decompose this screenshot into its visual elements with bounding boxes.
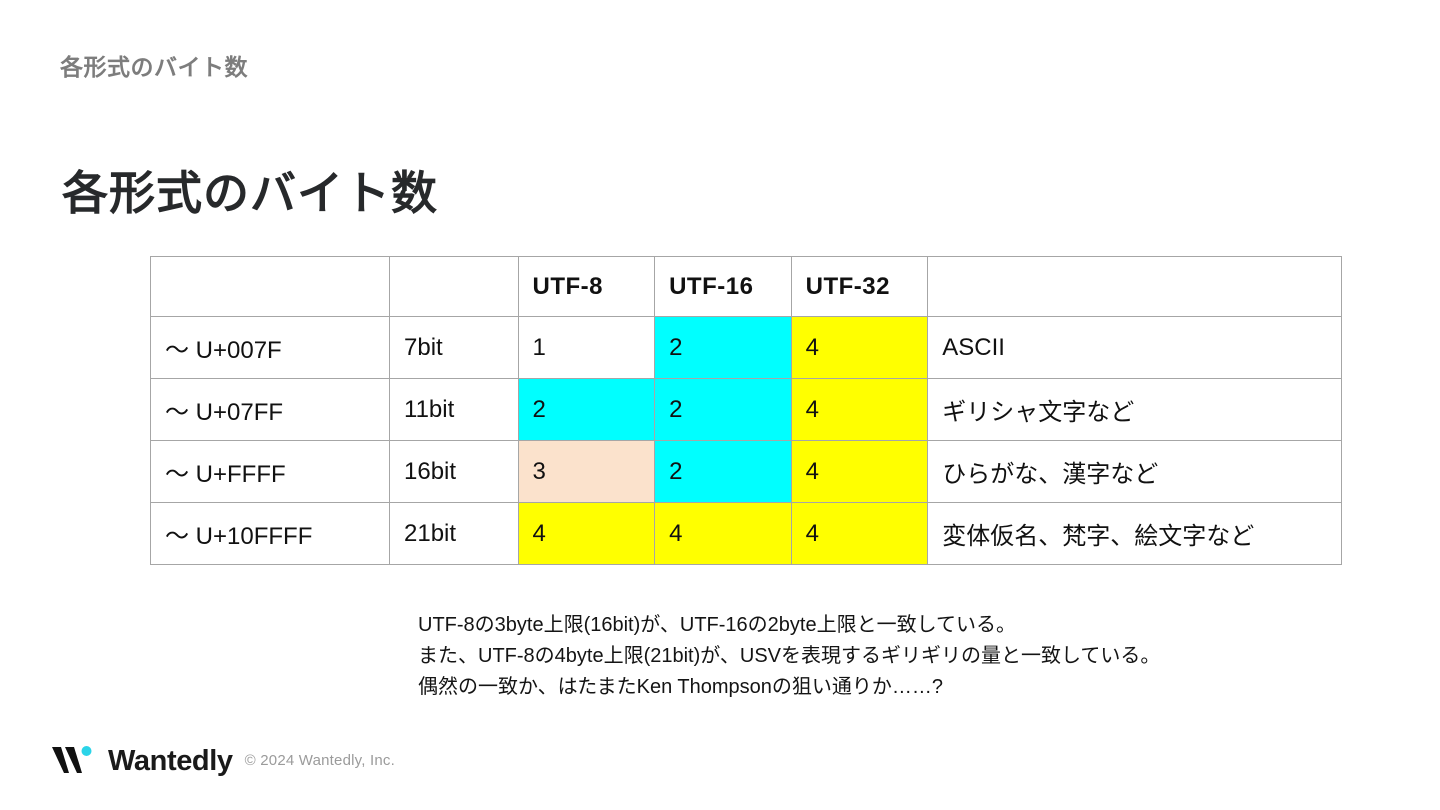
byte-size-table: UTF-8 UTF-16 UTF-32 ～ U+007F7bit124ASCII… <box>150 256 1342 565</box>
footer: Wantedly © 2024 Wantedly, Inc. <box>52 743 395 780</box>
cell-utf16: 2 <box>655 441 792 503</box>
cell-description: 変体仮名、梵字、絵文字など <box>928 503 1342 565</box>
cell-utf8: 3 <box>518 441 655 503</box>
cell-bits: 11bit <box>390 379 519 441</box>
caption-block: UTF-8の3byte上限(16bit)が、UTF-16の2byte上限と一致し… <box>418 610 1160 703</box>
table-row: ～ U+FFFF16bit324ひらがな、漢字など <box>151 441 1342 503</box>
cell-utf16: 4 <box>655 503 792 565</box>
cell-utf32: 4 <box>791 317 928 379</box>
table-row: ～ U+07FF11bit224ギリシャ文字など <box>151 379 1342 441</box>
table-row: ～ U+10FFFF21bit444変体仮名、梵字、絵文字など <box>151 503 1342 565</box>
table-header-bits <box>390 257 519 317</box>
wantedly-wordmark: Wantedly <box>108 747 233 776</box>
cell-utf32: 4 <box>791 379 928 441</box>
cell-bits: 21bit <box>390 503 519 565</box>
cell-utf32: 4 <box>791 441 928 503</box>
cell-description: ひらがな、漢字など <box>928 441 1342 503</box>
cell-utf8: 2 <box>518 379 655 441</box>
slide-running-head: 各形式のバイト数 <box>60 48 248 82</box>
cell-description: ギリシャ文字など <box>928 379 1342 441</box>
cell-range: ～ U+FFFF <box>151 441 390 503</box>
table-header-utf16: UTF-16 <box>655 257 792 317</box>
cell-bits: 7bit <box>390 317 519 379</box>
cell-utf16: 2 <box>655 379 792 441</box>
table-header-utf8: UTF-8 <box>518 257 655 317</box>
table-header-utf32: UTF-32 <box>791 257 928 317</box>
table-row: ～ U+007F7bit124ASCII <box>151 317 1342 379</box>
copyright-text: © 2024 Wantedly, Inc. <box>245 752 395 771</box>
table-header-description <box>928 257 1342 317</box>
cell-utf32: 4 <box>791 503 928 565</box>
table-header-range <box>151 257 390 317</box>
caption-line-2: また、UTF-8の4byte上限(21bit)が、USVを表現するギリギリの量と… <box>418 641 1160 672</box>
table-body: ～ U+007F7bit124ASCII～ U+07FF11bit224ギリシャ… <box>151 317 1342 565</box>
cell-utf8: 4 <box>518 503 655 565</box>
cell-range: ～ U+07FF <box>151 379 390 441</box>
cell-bits: 16bit <box>390 441 519 503</box>
page-title: 各形式のバイト数 <box>62 157 438 223</box>
cell-utf8: 1 <box>518 317 655 379</box>
cell-range: ～ U+10FFFF <box>151 503 390 565</box>
caption-line-3: 偶然の一致か、はたまたKen Thompsonの狙い通りか……? <box>418 672 1160 703</box>
cell-description: ASCII <box>928 317 1342 379</box>
caption-line-1: UTF-8の3byte上限(16bit)が、UTF-16の2byte上限と一致し… <box>418 610 1160 641</box>
table-header-row: UTF-8 UTF-16 UTF-32 <box>151 257 1342 317</box>
byte-size-table-container: UTF-8 UTF-16 UTF-32 ～ U+007F7bit124ASCII… <box>150 256 1342 565</box>
wantedly-logo-icon <box>52 743 98 780</box>
cell-range: ～ U+007F <box>151 317 390 379</box>
cell-utf16: 2 <box>655 317 792 379</box>
